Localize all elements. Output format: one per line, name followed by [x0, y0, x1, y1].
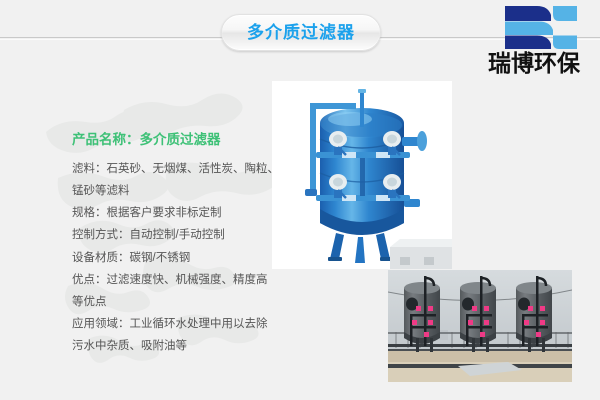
- spec-line: 滤料：石英砂、无烟煤、活性炭、陶粒、: [72, 158, 286, 180]
- page-title-badge: 多介质过滤器: [221, 14, 381, 51]
- spec-line: 优点：过滤速度快、机械强度、精度高: [72, 269, 286, 291]
- spec-line: 等优点: [72, 291, 286, 313]
- company-logo: 瑞博环保: [476, 4, 592, 80]
- spec-line: 设备材质：碳钢/不锈钢: [72, 247, 286, 269]
- ribo-wave-logo-icon: [503, 4, 579, 50]
- spec-line: 锰砂等滤料: [72, 180, 286, 202]
- page-title: 多介质过滤器: [247, 24, 355, 41]
- spec-line: 污水中杂质、吸附油等: [72, 335, 286, 357]
- spec-line: 规格：根据客户要求非标定制: [72, 202, 286, 224]
- company-name: 瑞博环保: [476, 50, 592, 76]
- product-secondary-image: [388, 270, 572, 382]
- product-main-image: [272, 81, 452, 269]
- product-name-heading: 产品名称：多介质过滤器: [72, 130, 286, 150]
- spec-line: 应用领域：工业循环水处理中用以去除: [72, 313, 286, 335]
- product-banner: 多介质过滤器 瑞博环保 产品名称：多介质过滤器 滤料：石英砂、无烟煤、活性炭、陶…: [0, 0, 600, 400]
- product-info-block: 产品名称：多介质过滤器 滤料：石英砂、无烟煤、活性炭、陶粒、 锰砂等滤料 规格：…: [72, 130, 286, 357]
- banner-header: 多介质过滤器 瑞博环保: [0, 0, 600, 78]
- spec-line: 控制方式：自动控制/手动控制: [72, 224, 286, 246]
